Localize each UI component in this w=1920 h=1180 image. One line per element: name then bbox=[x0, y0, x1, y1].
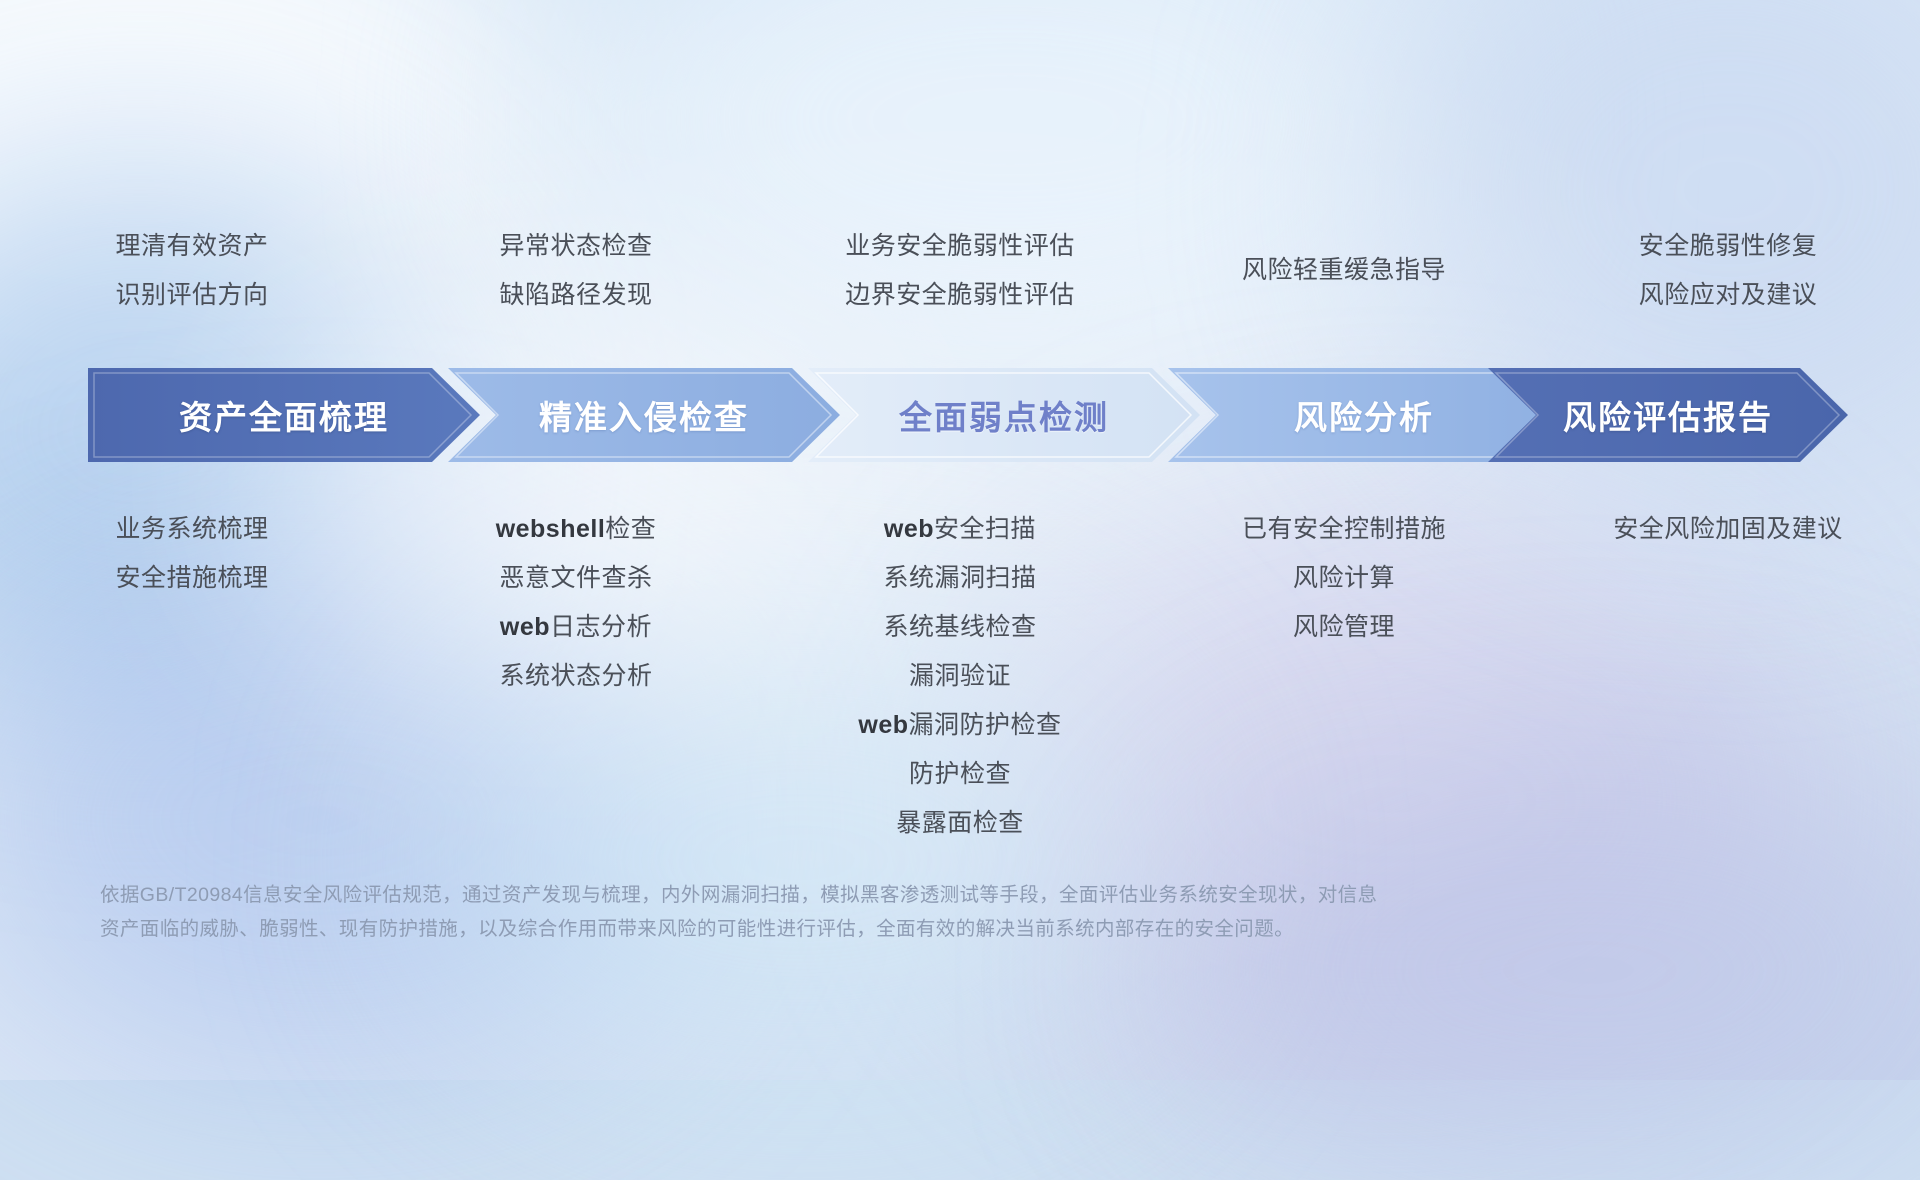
bottom-label-text: 安全扫描 bbox=[934, 515, 1036, 543]
bottom-label-text: 安全风险加固及建议 bbox=[1613, 515, 1843, 543]
bottom-column-5: 安全风险加固及建议 bbox=[1536, 505, 1920, 845]
bottom-label: 恶意文件查杀 bbox=[499, 554, 652, 603]
bottom-label: 系统状态分析 bbox=[499, 652, 652, 701]
bottom-label: 防护检查 bbox=[909, 750, 1011, 799]
stage-chevron-banner: 资产全面梳理 精准入侵检查 bbox=[88, 368, 1848, 462]
stage-title: 风险评估报告 bbox=[1563, 391, 1773, 439]
bottom-label: 安全措施梳理 bbox=[115, 554, 268, 603]
top-column-4: 风险轻重缓急指导 bbox=[1152, 222, 1536, 342]
bottom-label-text: 防护检查 bbox=[909, 760, 1011, 788]
bottom-label-text: 系统基线检查 bbox=[883, 613, 1036, 641]
top-label: 边界安全脆弱性评估 bbox=[845, 271, 1075, 320]
bottom-label-text: 日志分析 bbox=[550, 613, 652, 641]
bottom-label: web日志分析 bbox=[500, 603, 652, 652]
footer-line-2: 资产面临的威胁、脆弱性、现有防护措施，以及综合作用而带来风险的可能性进行评估，全… bbox=[100, 912, 1740, 946]
bottom-column-1: 业务系统梳理 安全措施梳理 bbox=[0, 505, 384, 845]
top-label: 缺陷路径发现 bbox=[499, 271, 652, 320]
bottom-label-text: 检查 bbox=[605, 515, 656, 543]
process-diagram: 理清有效资产 识别评估方向 异常状态检查 缺陷路径发现 业务安全脆弱性评估 边界… bbox=[0, 0, 1920, 1080]
stage-title: 资产全面梳理 bbox=[179, 391, 389, 439]
footer-line-1: 依据GB/T20984信息安全风险评估规范，通过资产发现与梳理，内外网漏洞扫描，… bbox=[100, 878, 1740, 912]
bottom-label: 业务系统梳理 bbox=[115, 505, 268, 554]
top-label-row: 理清有效资产 识别评估方向 异常状态检查 缺陷路径发现 业务安全脆弱性评估 边界… bbox=[0, 222, 1920, 342]
bottom-label-bold: web bbox=[858, 711, 908, 739]
bottom-label: web安全扫描 bbox=[884, 505, 1036, 554]
stage-title: 全面弱点检测 bbox=[899, 391, 1109, 439]
stage-title: 精准入侵检查 bbox=[539, 391, 749, 439]
bottom-label-text: 已有安全控制措施 bbox=[1242, 515, 1446, 543]
bottom-label-text: 系统状态分析 bbox=[499, 662, 652, 690]
bottom-label: webshell检查 bbox=[496, 505, 657, 554]
stage-chevron-5[interactable]: 风险评估报告 bbox=[1488, 368, 1848, 462]
bottom-label: 已有安全控制措施 bbox=[1242, 505, 1446, 554]
stage-title: 风险分析 bbox=[1294, 391, 1434, 439]
bottom-label-text: 业务系统梳理 bbox=[115, 515, 268, 543]
bottom-label-text: 系统漏洞扫描 bbox=[883, 564, 1036, 592]
bottom-label: 系统漏洞扫描 bbox=[883, 554, 1036, 603]
bottom-label: 暴露面检查 bbox=[896, 799, 1024, 848]
bottom-label-row: 业务系统梳理 安全措施梳理 webshell检查 恶意文件查杀 web日志分析 … bbox=[0, 505, 1920, 845]
top-column-5: 安全脆弱性修复 风险应对及建议 bbox=[1536, 222, 1920, 342]
bottom-label-text: 恶意文件查杀 bbox=[499, 564, 652, 592]
bottom-label-text: 风险计算 bbox=[1293, 564, 1395, 592]
footer-description: 依据GB/T20984信息安全风险评估规范，通过资产发现与梳理，内外网漏洞扫描，… bbox=[100, 878, 1740, 946]
bottom-label-bold: web bbox=[500, 613, 550, 641]
top-label: 风险轻重缓急指导 bbox=[1242, 246, 1446, 295]
bottom-label-bold: webshell bbox=[496, 515, 606, 543]
bottom-label: 系统基线检查 bbox=[883, 603, 1036, 652]
stage-chevron-1[interactable]: 资产全面梳理 bbox=[88, 368, 480, 462]
stage-chevron-3[interactable]: 全面弱点检测 bbox=[808, 368, 1200, 462]
bottom-label: 风险管理 bbox=[1293, 603, 1395, 652]
top-label: 异常状态检查 bbox=[499, 222, 652, 271]
bottom-label-text: 暴露面检查 bbox=[896, 809, 1024, 837]
bottom-label: 漏洞验证 bbox=[909, 652, 1011, 701]
bottom-column-4: 已有安全控制措施 风险计算 风险管理 bbox=[1152, 505, 1536, 845]
bottom-label: web漏洞防护检查 bbox=[858, 701, 1061, 750]
bottom-label-text: 漏洞验证 bbox=[909, 662, 1011, 690]
top-label: 识别评估方向 bbox=[115, 271, 268, 320]
top-label: 业务安全脆弱性评估 bbox=[845, 222, 1075, 271]
top-label: 风险应对及建议 bbox=[1639, 271, 1818, 320]
bottom-label: 风险计算 bbox=[1293, 554, 1395, 603]
top-column-1: 理清有效资产 识别评估方向 bbox=[0, 222, 384, 342]
bottom-label-bold: web bbox=[884, 515, 934, 543]
stage-chevron-2[interactable]: 精准入侵检查 bbox=[448, 368, 840, 462]
top-column-2: 异常状态检查 缺陷路径发现 bbox=[384, 222, 768, 342]
bottom-label: 安全风险加固及建议 bbox=[1613, 505, 1843, 554]
top-column-3: 业务安全脆弱性评估 边界安全脆弱性评估 bbox=[768, 222, 1152, 342]
bottom-label-text: 安全措施梳理 bbox=[115, 564, 268, 592]
bottom-column-3: web安全扫描 系统漏洞扫描 系统基线检查 漏洞验证 web漏洞防护检查 防护检… bbox=[768, 505, 1152, 845]
bottom-column-2: webshell检查 恶意文件查杀 web日志分析 系统状态分析 bbox=[384, 505, 768, 845]
top-label: 安全脆弱性修复 bbox=[1639, 222, 1818, 271]
bottom-label-text: 风险管理 bbox=[1293, 613, 1395, 641]
bottom-label-text: 漏洞防护检查 bbox=[909, 711, 1062, 739]
top-label: 理清有效资产 bbox=[115, 222, 268, 271]
